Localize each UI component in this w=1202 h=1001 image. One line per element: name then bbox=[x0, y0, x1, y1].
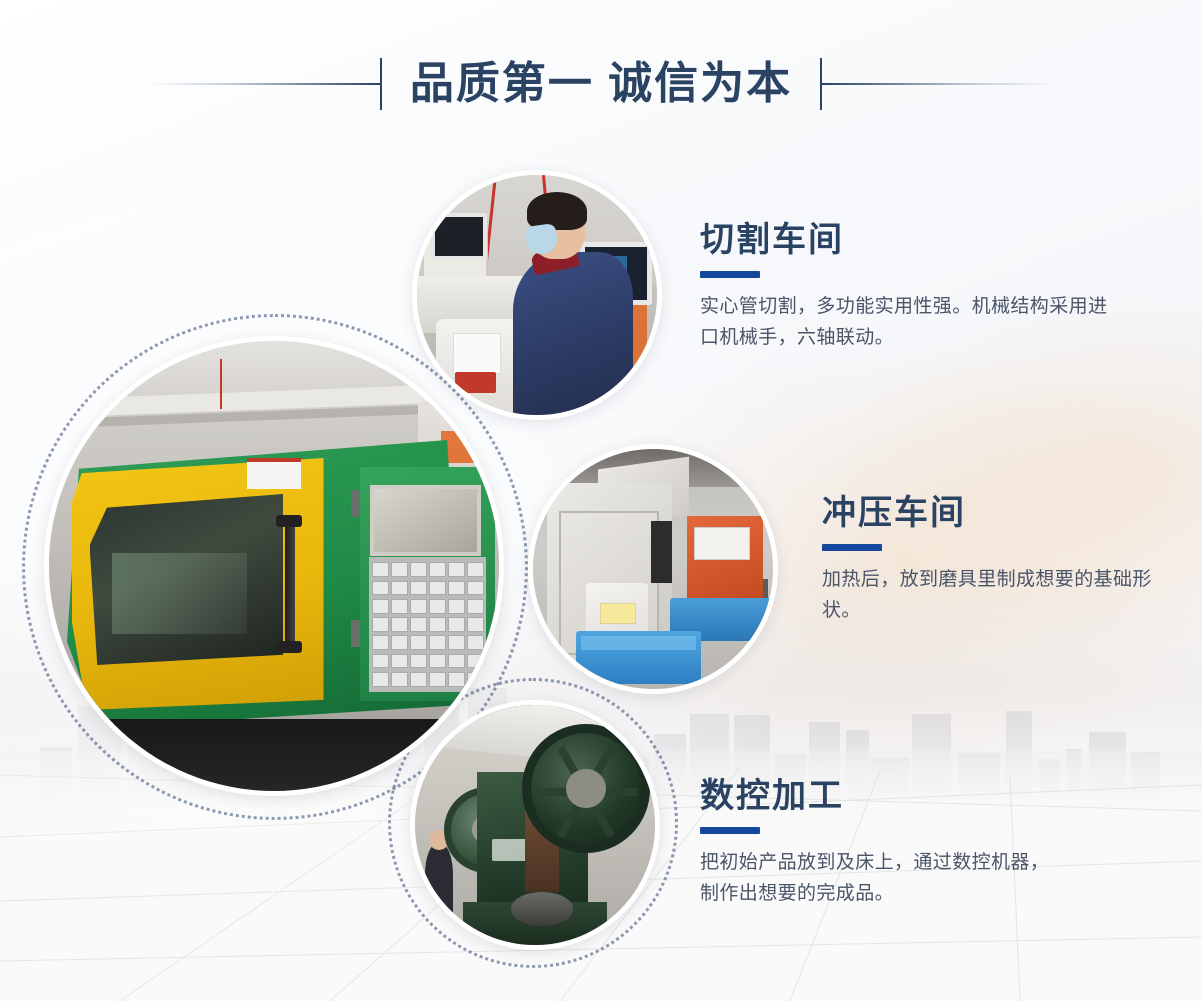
stamping-workshop-photo bbox=[533, 449, 773, 689]
title-rule-left bbox=[148, 83, 380, 85]
section-underline-cut bbox=[700, 271, 760, 278]
title-rule-right bbox=[822, 83, 1054, 85]
section-photo-cut bbox=[412, 170, 662, 420]
section-title-stamp: 冲压车间 bbox=[822, 495, 1162, 532]
section-text-cnc: 数控加工 把初始产品放到及床上，通过数控机器，制作出想要的完成品。 bbox=[700, 778, 1050, 910]
punch-press-photo bbox=[415, 705, 655, 945]
section-title-cut: 切割车间 bbox=[700, 222, 1120, 259]
cnc-operator-photo bbox=[417, 175, 657, 415]
page-title-banner: 品质第一 诚信为本 bbox=[0, 48, 1202, 120]
section-body-cnc: 把初始产品放到及床上，通过数控机器，制作出想要的完成品。 bbox=[700, 848, 1050, 910]
section-title-cnc: 数控加工 bbox=[700, 778, 1050, 815]
page-title: 品质第一 诚信为本 bbox=[382, 62, 820, 106]
section-body-cut: 实心管切割，多功能实用性强。机械结构采用进口机械手，六轴联动。 bbox=[700, 292, 1120, 354]
section-underline-cnc bbox=[700, 827, 760, 834]
section-underline-stamp bbox=[822, 544, 882, 551]
section-text-stamp: 冲压车间 加热后，放到磨具里制成想要的基础形状。 bbox=[822, 495, 1162, 627]
section-photo-cnc bbox=[410, 700, 660, 950]
section-photo-stamp bbox=[528, 444, 778, 694]
section-body-stamp: 加热后，放到磨具里制成想要的基础形状。 bbox=[822, 565, 1162, 627]
section-text-cut: 切割车间 实心管切割，多功能实用性强。机械结构采用进口机械手，六轴联动。 bbox=[700, 222, 1120, 354]
page-canvas: 品质第一 诚信为本 bbox=[0, 0, 1202, 1001]
